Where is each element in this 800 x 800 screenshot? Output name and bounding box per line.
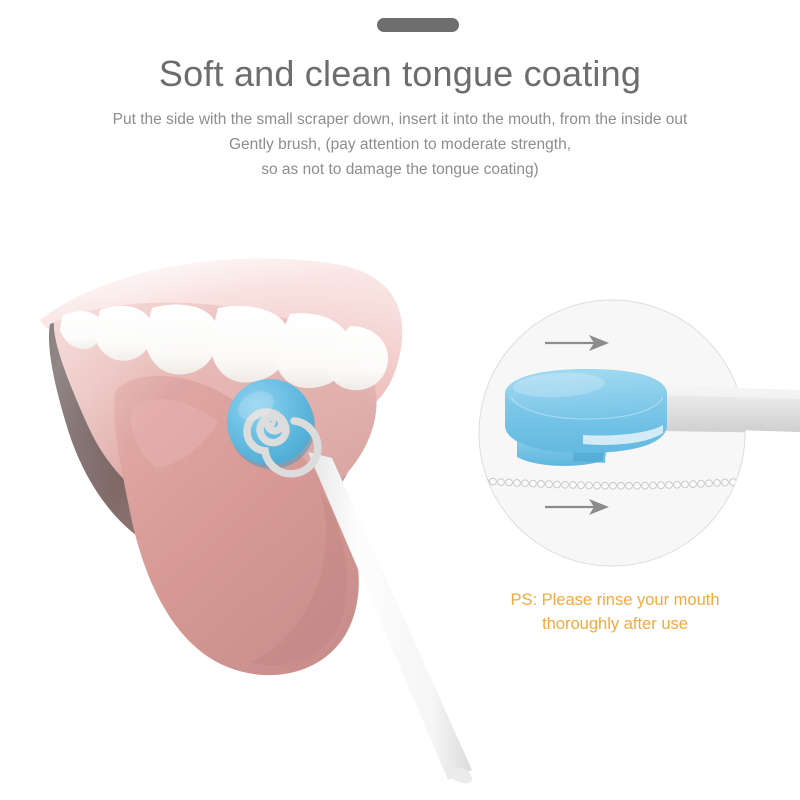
instruction-line-2: Gently brush, (pay attention to moderate…: [0, 132, 800, 157]
ps-note-line-2: thoroughly after use: [470, 612, 760, 636]
mouth-illustration: [20, 240, 500, 800]
detail-circle: [455, 285, 800, 585]
instruction-line-1: Put the side with the small scraper down…: [0, 107, 800, 132]
infographic-page: Soft and clean tongue coating Put the si…: [0, 0, 800, 800]
scraper-head: [505, 369, 667, 453]
scraper-handle-extension: [735, 388, 800, 432]
ps-note: PS: Please rinse your mouth thoroughly a…: [470, 588, 760, 636]
header-block: Soft and clean tongue coating Put the si…: [0, 52, 800, 182]
instruction-line-3: so as not to damage the tongue coating): [0, 157, 800, 182]
ps-note-line-1: PS: Please rinse your mouth: [470, 588, 760, 612]
page-title: Soft and clean tongue coating: [0, 52, 800, 96]
instruction-text: Put the side with the small scraper down…: [0, 107, 800, 182]
decorative-pill: [377, 18, 459, 32]
